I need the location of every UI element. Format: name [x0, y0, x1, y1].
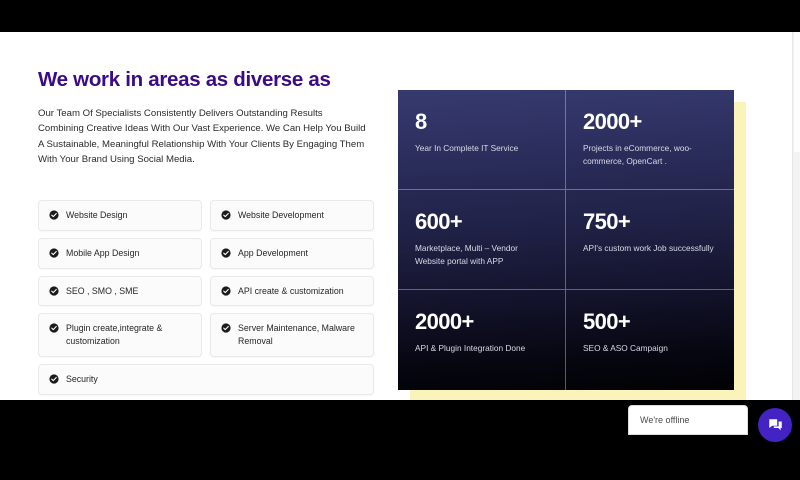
intro-paragraph: Our Team Of Specialists Consistently Del…: [38, 106, 368, 168]
screen: We work in areas as diverse as Our Team …: [0, 0, 800, 480]
page-scrollbar-thumb[interactable]: [794, 32, 800, 152]
stats-grid: 8Year In Complete IT Service2000+Project…: [398, 90, 734, 390]
stat-cell: 8Year In Complete IT Service: [398, 90, 566, 190]
check-circle-icon: [221, 286, 231, 296]
stat-value: 750+: [583, 210, 717, 233]
check-circle-icon: [49, 323, 59, 333]
service-item-label: API create & customization: [238, 285, 344, 298]
chat-status-panel[interactable]: We're offline: [628, 405, 748, 435]
stat-cell: 750+API's custom work Job successfully: [566, 190, 734, 290]
intro-section: We work in areas as diverse as Our Team …: [38, 68, 374, 168]
check-circle-icon: [49, 374, 59, 384]
stat-cell: 600+Marketplace, Multi – Vendor Website …: [398, 190, 566, 290]
page-title: We work in areas as diverse as: [38, 68, 374, 93]
service-item-label: Plugin create,integrate & customization: [66, 322, 191, 348]
service-row: Website DesignWebsite Development: [38, 200, 374, 231]
service-row: Mobile App DesignApp Development: [38, 238, 374, 269]
service-item[interactable]: Mobile App Design: [38, 238, 202, 269]
services-checklist: Website DesignWebsite DevelopmentMobile …: [38, 200, 374, 400]
check-circle-icon: [49, 248, 59, 258]
service-item[interactable]: Website Design: [38, 200, 202, 231]
stat-value: 8: [415, 110, 548, 133]
stat-value: 2000+: [415, 310, 548, 333]
check-circle-icon: [221, 248, 231, 258]
stat-label: SEO & ASO Campaign: [583, 342, 717, 355]
service-item[interactable]: Plugin create,integrate & customization: [38, 313, 202, 357]
stat-label: Year In Complete IT Service: [415, 142, 548, 155]
service-item-label: Website Design: [66, 209, 127, 222]
stat-label: Projects in eCommerce, woo-commerce, Ope…: [583, 142, 717, 168]
check-circle-icon: [49, 286, 59, 296]
service-item[interactable]: Website Development: [210, 200, 374, 231]
page-viewport: We work in areas as diverse as Our Team …: [0, 32, 792, 400]
service-row: SEO , SMO , SMEAPI create & customizatio…: [38, 276, 374, 307]
check-circle-icon: [221, 323, 231, 333]
stats-panel: 8Year In Complete IT Service2000+Project…: [398, 90, 746, 400]
service-row: Security: [38, 364, 374, 395]
service-item-label: App Development: [238, 247, 308, 260]
stat-value: 600+: [415, 210, 548, 233]
stat-cell: 500+SEO & ASO Campaign: [566, 290, 734, 390]
stat-label: API & Plugin Integration Done: [415, 342, 548, 355]
stat-cell: 2000+API & Plugin Integration Done: [398, 290, 566, 390]
service-item-label: Mobile App Design: [66, 247, 139, 260]
check-circle-icon: [49, 210, 59, 220]
service-item[interactable]: Server Maintenance, Malware Removal: [210, 313, 374, 357]
service-item[interactable]: API create & customization: [210, 276, 374, 307]
stat-value: 2000+: [583, 110, 717, 133]
check-circle-icon: [221, 210, 231, 220]
chat-status-label: We're offline: [640, 415, 689, 425]
page-scrollbar[interactable]: [792, 32, 800, 400]
service-item[interactable]: SEO , SMO , SME: [38, 276, 202, 307]
service-item-label: Website Development: [238, 209, 324, 222]
stat-label: Marketplace, Multi – Vendor Website port…: [415, 242, 548, 268]
stat-cell: 2000+Projects in eCommerce, woo-commerce…: [566, 90, 734, 190]
service-item-label: SEO , SMO , SME: [66, 285, 138, 298]
service-item-label: Server Maintenance, Malware Removal: [238, 322, 363, 348]
service-item[interactable]: Security: [38, 364, 374, 395]
chat-launcher-button[interactable]: [758, 408, 792, 442]
chat-bubble-icon: [767, 417, 784, 434]
service-item[interactable]: App Development: [210, 238, 374, 269]
service-item-label: Security: [66, 373, 98, 386]
service-row: Plugin create,integrate & customizationS…: [38, 313, 374, 357]
stat-label: API's custom work Job successfully: [583, 242, 717, 255]
stat-value: 500+: [583, 310, 717, 333]
